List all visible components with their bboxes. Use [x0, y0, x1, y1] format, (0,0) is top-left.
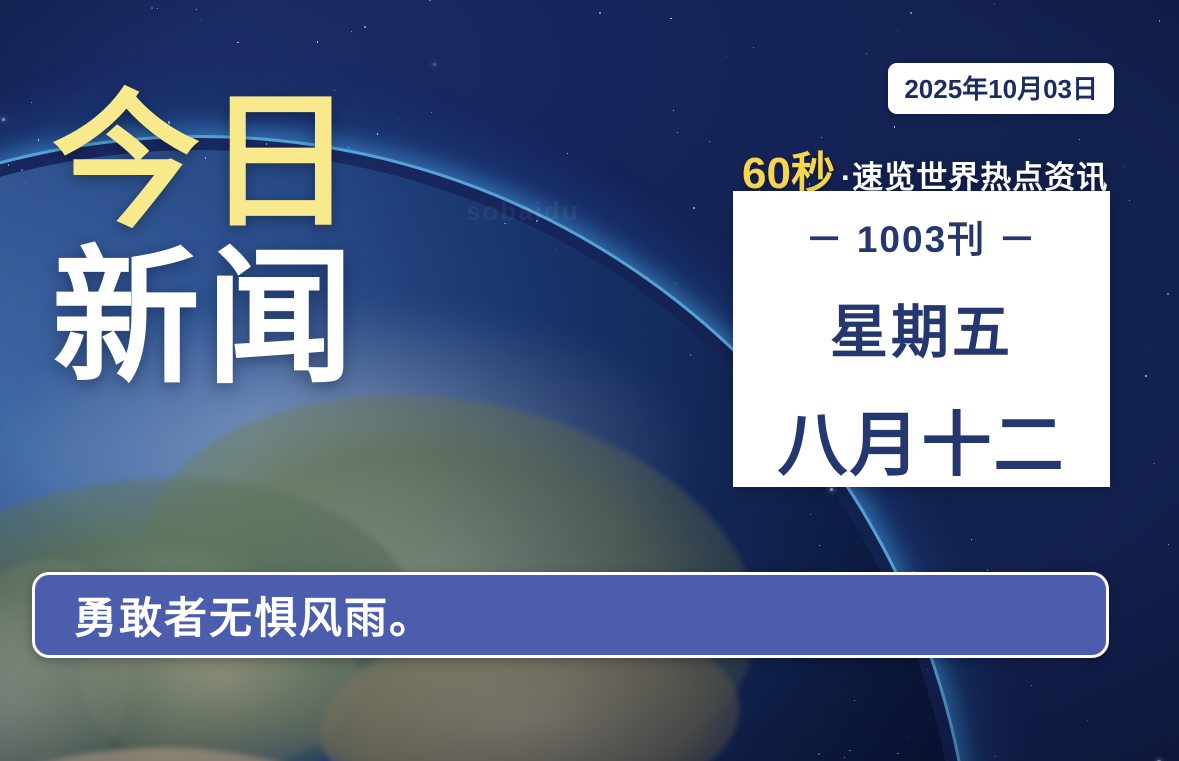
- weekday-label: 星期五: [830, 285, 1013, 369]
- news-poster: sobaidu 今日 新闻 2025年10月03日 60秒·速览世界热点资讯 －…: [0, 0, 1179, 761]
- page-title: 今日 新闻: [52, 92, 522, 390]
- page-title-line-2: 新闻: [52, 248, 522, 390]
- issue-card: － 1003刊 － 星期五 八月十二: [733, 191, 1110, 487]
- issue-number: － 1003刊 －: [806, 209, 1038, 263]
- quote-banner: 勇敢者无惧风雨。: [32, 572, 1109, 658]
- date-badge: 2025年10月03日: [888, 63, 1114, 114]
- page-title-line-1: 今日: [52, 92, 522, 234]
- tagline-rest: ·速览世界热点资讯: [841, 160, 1108, 195]
- lunar-date-label: 八月十二: [778, 389, 1066, 490]
- quote-text: 勇敢者无惧风雨。: [74, 584, 434, 646]
